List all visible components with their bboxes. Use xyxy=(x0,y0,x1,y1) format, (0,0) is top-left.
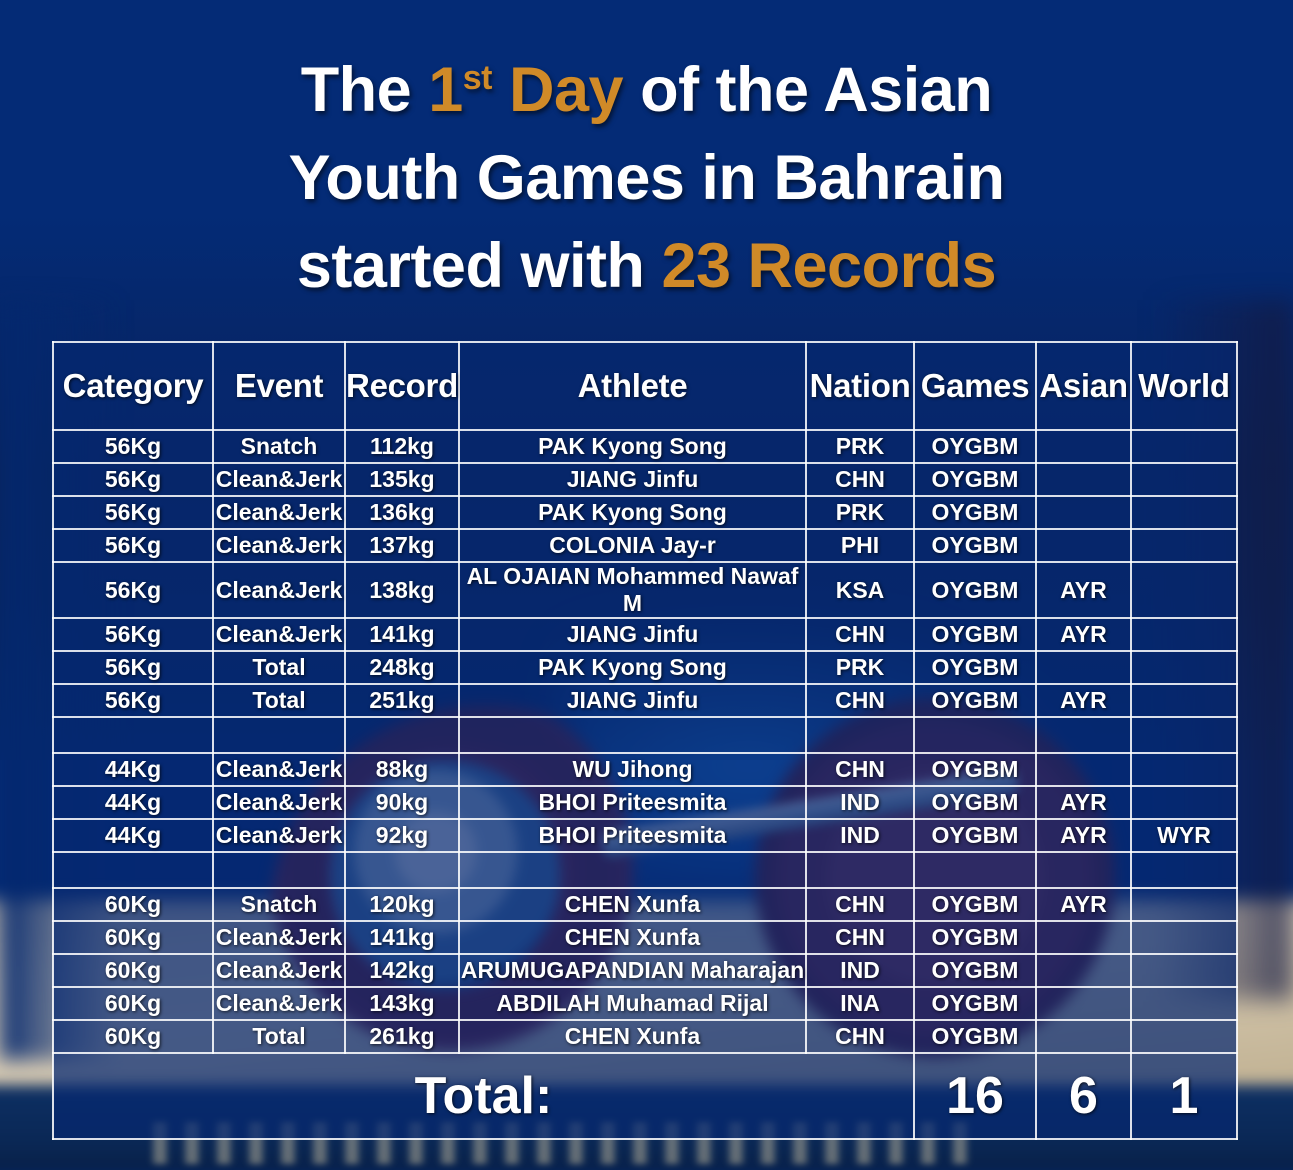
cell-world xyxy=(1131,753,1237,786)
cell-record: 137kg xyxy=(345,529,459,562)
cell-category: 44Kg xyxy=(53,819,213,852)
column-header-games[interactable]: Games xyxy=(914,342,1036,430)
cell-event: Clean&Jerk xyxy=(213,618,345,651)
cell-athlete: WU Jihong xyxy=(459,753,806,786)
table-row: 60KgClean&Jerk141kgCHEN XunfaCHNOYGBM xyxy=(53,921,1237,954)
cell-category: 56Kg xyxy=(53,651,213,684)
cell-event: Clean&Jerk xyxy=(213,987,345,1020)
title-ordinal-suffix: st xyxy=(463,59,492,97)
title-record-count: 23 Records xyxy=(661,231,996,301)
cell-nation: INA xyxy=(806,987,914,1020)
poster-canvas: The 1st Day of the Asian Youth Games in … xyxy=(0,0,1293,1170)
cell-games: OYGBM xyxy=(914,684,1036,717)
cell-asian: AYR xyxy=(1036,888,1131,921)
title-the: The xyxy=(301,55,429,125)
spacer-row xyxy=(53,852,1237,888)
cell-category: 60Kg xyxy=(53,1020,213,1053)
cell-world xyxy=(1131,921,1237,954)
spacer-cell xyxy=(1036,717,1131,753)
cell-athlete: JIANG Jinfu xyxy=(459,684,806,717)
spacer-cell xyxy=(345,717,459,753)
spacer-cell xyxy=(1036,852,1131,888)
cell-nation: IND xyxy=(806,786,914,819)
cell-category: 56Kg xyxy=(53,430,213,463)
cell-category: 44Kg xyxy=(53,753,213,786)
cell-category: 44Kg xyxy=(53,786,213,819)
table-row: 60KgSnatch120kgCHEN XunfaCHNOYGBMAYR xyxy=(53,888,1237,921)
title-line-1: The 1st Day of the Asian xyxy=(0,46,1293,134)
cell-athlete: CHEN Xunfa xyxy=(459,921,806,954)
cell-nation: CHN xyxy=(806,921,914,954)
cell-record: 142kg xyxy=(345,954,459,987)
table-row: 56KgClean&Jerk137kgCOLONIA Jay-rPHIOYGBM xyxy=(53,529,1237,562)
cell-world xyxy=(1131,888,1237,921)
cell-asian xyxy=(1036,753,1131,786)
table-row: 56KgClean&Jerk141kgJIANG JinfuCHNOYGBMAY… xyxy=(53,618,1237,651)
cell-nation: CHN xyxy=(806,888,914,921)
cell-games: OYGBM xyxy=(914,618,1036,651)
spacer-cell xyxy=(1131,717,1237,753)
cell-category: 56Kg xyxy=(53,463,213,496)
cell-nation: CHN xyxy=(806,463,914,496)
cell-athlete: JIANG Jinfu xyxy=(459,618,806,651)
cell-nation: KSA xyxy=(806,562,914,618)
spacer-cell xyxy=(53,852,213,888)
total-games-count: 16 xyxy=(914,1053,1036,1139)
cell-world xyxy=(1131,1020,1237,1053)
cell-event: Clean&Jerk xyxy=(213,753,345,786)
table-row: 56KgClean&Jerk136kgPAK Kyong SongPRKOYGB… xyxy=(53,496,1237,529)
column-header-nation[interactable]: Nation xyxy=(806,342,914,430)
table-row: 56KgClean&Jerk138kgAL OJAIAN Mohammed Na… xyxy=(53,562,1237,618)
table-header: Category Event Record Athlete Nation Gam… xyxy=(53,342,1237,430)
cell-record: 120kg xyxy=(345,888,459,921)
column-header-category[interactable]: Category xyxy=(53,342,213,430)
cell-category: 60Kg xyxy=(53,987,213,1020)
cell-world xyxy=(1131,430,1237,463)
cell-world xyxy=(1131,987,1237,1020)
cell-asian xyxy=(1036,1020,1131,1053)
cell-athlete: ABDILAH Muhamad Rijal xyxy=(459,987,806,1020)
cell-event: Clean&Jerk xyxy=(213,529,345,562)
cell-category: 56Kg xyxy=(53,684,213,717)
cell-world xyxy=(1131,954,1237,987)
spacer-cell xyxy=(345,852,459,888)
table-row: 56KgTotal248kgPAK Kyong SongPRKOYGBM xyxy=(53,651,1237,684)
cell-category: 60Kg xyxy=(53,921,213,954)
cell-asian xyxy=(1036,529,1131,562)
cell-event: Clean&Jerk xyxy=(213,463,345,496)
column-header-world[interactable]: World xyxy=(1131,342,1237,430)
cell-world xyxy=(1131,529,1237,562)
cell-category: 56Kg xyxy=(53,529,213,562)
cell-athlete: CHEN Xunfa xyxy=(459,888,806,921)
total-label: Total: xyxy=(53,1053,914,1139)
cell-games: OYGBM xyxy=(914,651,1036,684)
cell-games: OYGBM xyxy=(914,819,1036,852)
cell-nation: IND xyxy=(806,819,914,852)
cell-event: Clean&Jerk xyxy=(213,954,345,987)
cell-event: Total xyxy=(213,1020,345,1053)
cell-asian: AYR xyxy=(1036,562,1131,618)
cell-record: 90kg xyxy=(345,786,459,819)
table-row: 60KgClean&Jerk143kgABDILAH Muhamad Rijal… xyxy=(53,987,1237,1020)
cell-record: 136kg xyxy=(345,496,459,529)
cell-event: Snatch xyxy=(213,430,345,463)
cell-world xyxy=(1131,684,1237,717)
cell-nation: CHN xyxy=(806,1020,914,1053)
cell-nation: CHN xyxy=(806,618,914,651)
table-row: 60KgTotal261kgCHEN XunfaCHNOYGBM xyxy=(53,1020,1237,1053)
cell-nation: PRK xyxy=(806,496,914,529)
spacer-cell xyxy=(459,717,806,753)
table-row: 60KgClean&Jerk142kgARUMUGAPANDIAN Mahara… xyxy=(53,954,1237,987)
cell-record: 251kg xyxy=(345,684,459,717)
cell-games: OYGBM xyxy=(914,921,1036,954)
spacer-cell xyxy=(914,717,1036,753)
title-ordinal-number: 1 xyxy=(428,55,463,125)
cell-category: 56Kg xyxy=(53,562,213,618)
cell-category: 60Kg xyxy=(53,888,213,921)
cell-world xyxy=(1131,651,1237,684)
title-line-3: started with 23 Records xyxy=(0,222,1293,310)
cell-category: 56Kg xyxy=(53,618,213,651)
cell-athlete: AL OJAIAN Mohammed Nawaf M xyxy=(459,562,806,618)
table-row: 44KgClean&Jerk90kgBHOI PriteesmitaINDOYG… xyxy=(53,786,1237,819)
table-row: 44KgClean&Jerk92kgBHOI PriteesmitaINDOYG… xyxy=(53,819,1237,852)
table-row: 44KgClean&Jerk88kgWU JihongCHNOYGBM xyxy=(53,753,1237,786)
cell-games: OYGBM xyxy=(914,463,1036,496)
cell-record: 92kg xyxy=(345,819,459,852)
cell-nation: CHN xyxy=(806,753,914,786)
cell-world xyxy=(1131,562,1237,618)
cell-asian xyxy=(1036,430,1131,463)
spacer-cell xyxy=(806,852,914,888)
cell-event: Total xyxy=(213,684,345,717)
cell-athlete: PAK Kyong Song xyxy=(459,496,806,529)
cell-games: OYGBM xyxy=(914,786,1036,819)
total-row: Total: 16 6 1 xyxy=(53,1053,1237,1139)
spacer-cell xyxy=(806,717,914,753)
cell-event: Clean&Jerk xyxy=(213,496,345,529)
cell-record: 135kg xyxy=(345,463,459,496)
cell-event: Clean&Jerk xyxy=(213,562,345,618)
table-body: 56KgSnatch112kgPAK Kyong SongPRKOYGBM56K… xyxy=(53,430,1237,1053)
cell-asian xyxy=(1036,954,1131,987)
table-footer: Total: 16 6 1 xyxy=(53,1053,1237,1139)
cell-games: OYGBM xyxy=(914,430,1036,463)
cell-games: OYGBM xyxy=(914,562,1036,618)
cell-nation: CHN xyxy=(806,684,914,717)
cell-record: 261kg xyxy=(345,1020,459,1053)
spacer-row xyxy=(53,717,1237,753)
title-day: Day xyxy=(492,55,623,125)
cell-record: 143kg xyxy=(345,987,459,1020)
cell-world: WYR xyxy=(1131,819,1237,852)
page-title: The 1st Day of the Asian Youth Games in … xyxy=(0,46,1293,310)
cell-asian: AYR xyxy=(1036,786,1131,819)
cell-event: Total xyxy=(213,651,345,684)
table-header-row: Category Event Record Athlete Nation Gam… xyxy=(53,342,1237,430)
cell-games: OYGBM xyxy=(914,888,1036,921)
cell-athlete: ARUMUGAPANDIAN Maharajan xyxy=(459,954,806,987)
cell-athlete: PAK Kyong Song xyxy=(459,430,806,463)
cell-games: OYGBM xyxy=(914,1020,1036,1053)
total-asian-count: 6 xyxy=(1036,1053,1131,1139)
cell-athlete: CHEN Xunfa xyxy=(459,1020,806,1053)
spacer-cell xyxy=(53,717,213,753)
cell-record: 141kg xyxy=(345,618,459,651)
cell-nation: PRK xyxy=(806,651,914,684)
table-row: 56KgSnatch112kgPAK Kyong SongPRKOYGBM xyxy=(53,430,1237,463)
cell-athlete: BHOI Priteesmita xyxy=(459,819,806,852)
cell-record: 112kg xyxy=(345,430,459,463)
cell-games: OYGBM xyxy=(914,987,1036,1020)
cell-category: 60Kg xyxy=(53,954,213,987)
table-row: 56KgTotal251kgJIANG JinfuCHNOYGBMAYR xyxy=(53,684,1237,717)
cell-event: Clean&Jerk xyxy=(213,819,345,852)
title-started-with: started with xyxy=(297,231,662,301)
cell-event: Clean&Jerk xyxy=(213,786,345,819)
cell-asian: AYR xyxy=(1036,819,1131,852)
cell-asian xyxy=(1036,496,1131,529)
cell-asian xyxy=(1036,921,1131,954)
cell-athlete: JIANG Jinfu xyxy=(459,463,806,496)
title-of-the-asian: of the Asian xyxy=(623,55,992,125)
cell-asian xyxy=(1036,987,1131,1020)
column-header-record[interactable]: Record xyxy=(345,342,459,430)
cell-games: OYGBM xyxy=(914,954,1036,987)
column-header-event[interactable]: Event xyxy=(213,342,345,430)
spacer-cell xyxy=(213,717,345,753)
cell-athlete: COLONIA Jay-r xyxy=(459,529,806,562)
cell-record: 138kg xyxy=(345,562,459,618)
cell-world xyxy=(1131,786,1237,819)
records-table: Category Event Record Athlete Nation Gam… xyxy=(52,341,1238,1140)
cell-games: OYGBM xyxy=(914,496,1036,529)
cell-games: OYGBM xyxy=(914,529,1036,562)
cell-asian xyxy=(1036,651,1131,684)
cell-world xyxy=(1131,463,1237,496)
title-line-2: Youth Games in Bahrain xyxy=(0,134,1293,222)
cell-event: Clean&Jerk xyxy=(213,921,345,954)
cell-category: 56Kg xyxy=(53,496,213,529)
cell-nation: PRK xyxy=(806,430,914,463)
column-header-asian[interactable]: Asian xyxy=(1036,342,1131,430)
cell-asian xyxy=(1036,463,1131,496)
cell-world xyxy=(1131,618,1237,651)
column-header-athlete[interactable]: Athlete xyxy=(459,342,806,430)
spacer-cell xyxy=(213,852,345,888)
spacer-cell xyxy=(914,852,1036,888)
cell-nation: IND xyxy=(806,954,914,987)
cell-record: 141kg xyxy=(345,921,459,954)
spacer-cell xyxy=(1131,852,1237,888)
cell-record: 248kg xyxy=(345,651,459,684)
cell-nation: PHI xyxy=(806,529,914,562)
cell-asian: AYR xyxy=(1036,618,1131,651)
cell-record: 88kg xyxy=(345,753,459,786)
spacer-cell xyxy=(459,852,806,888)
cell-games: OYGBM xyxy=(914,753,1036,786)
total-world-count: 1 xyxy=(1131,1053,1237,1139)
cell-athlete: PAK Kyong Song xyxy=(459,651,806,684)
cell-athlete: BHOI Priteesmita xyxy=(459,786,806,819)
cell-world xyxy=(1131,496,1237,529)
cell-event: Snatch xyxy=(213,888,345,921)
cell-asian: AYR xyxy=(1036,684,1131,717)
table-row: 56KgClean&Jerk135kgJIANG JinfuCHNOYGBM xyxy=(53,463,1237,496)
